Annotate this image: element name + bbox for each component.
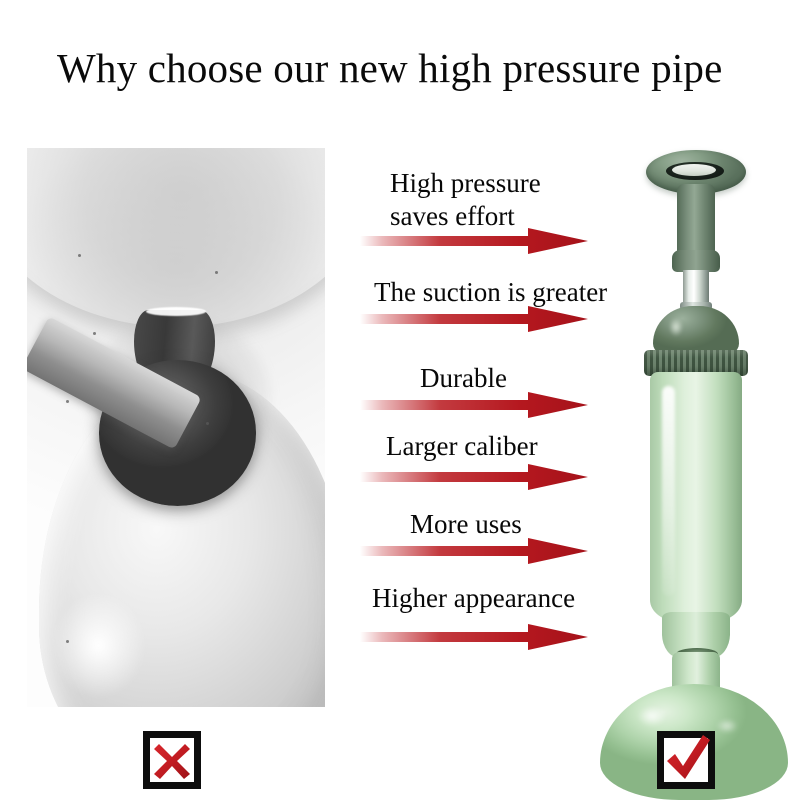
product-infographic: Why choose our new high pressure pipe Hi…	[0, 0, 800, 800]
pump-handle-collar	[672, 250, 720, 272]
suction-cup-highlight-left	[632, 702, 672, 730]
photo-speck	[78, 254, 81, 257]
photo-speck	[66, 400, 69, 403]
product-image	[596, 150, 796, 706]
feature-label-3: Larger caliber	[386, 430, 616, 463]
feature-arrow-2	[360, 392, 588, 418]
photo-speck	[206, 422, 209, 425]
cross-icon	[150, 738, 194, 782]
before-photo	[27, 148, 325, 707]
check-icon	[664, 738, 708, 782]
feature-label-2: Durable	[420, 362, 620, 395]
feature-arrow-4	[360, 538, 588, 564]
feature-label-5: Higher appearance	[372, 582, 622, 615]
verdict-badge-good	[657, 731, 715, 789]
verdict-badge-bad	[143, 731, 201, 789]
pump-shoulder-highlight	[666, 314, 686, 340]
feature-label-0: High pressure saves effort	[390, 167, 630, 233]
feature-arrow-3	[360, 464, 588, 490]
toilet-bowl-rim	[27, 148, 325, 327]
page-title: Why choose our new high pressure pipe	[57, 42, 800, 94]
feature-arrow-1	[360, 306, 588, 332]
feature-arrow-5	[360, 624, 588, 650]
feature-label-4: More uses	[410, 508, 610, 541]
pump-handle-ring-inner	[672, 164, 716, 176]
suction-cup-highlight-right	[712, 716, 742, 736]
feature-arrow-0	[360, 228, 588, 254]
before-photo-scene	[27, 148, 325, 707]
pump-barrel-highlight	[662, 386, 675, 596]
photo-speck	[215, 271, 218, 274]
toilet-bowl-highlight	[33, 584, 164, 707]
photo-speck	[66, 640, 69, 643]
